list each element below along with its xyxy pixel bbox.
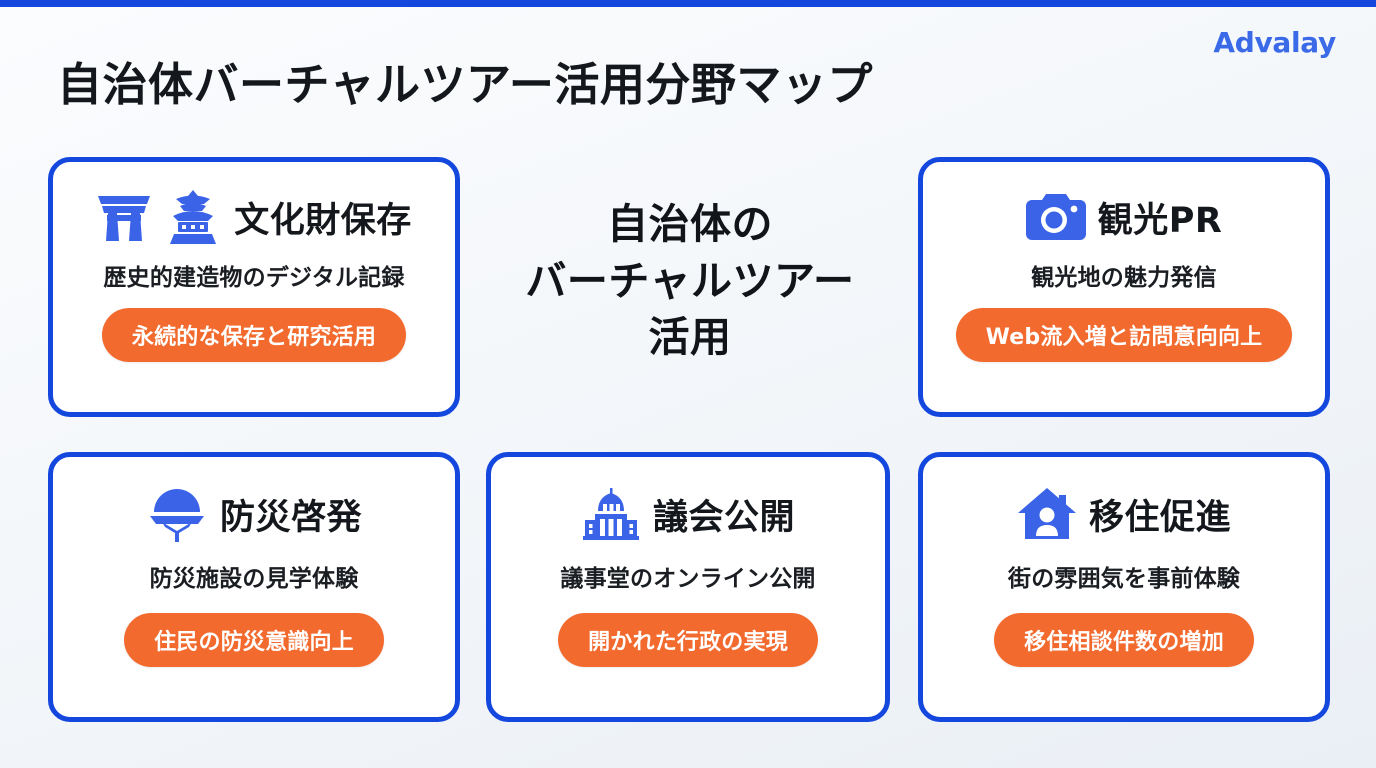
slide-root: Advalay 自治体バーチャルツアー活用分野マップ 自治体の バーチャルツアー…: [0, 0, 1376, 768]
card-outcome-badge: 移住相談件数の増加: [994, 613, 1254, 667]
card-cultural-preservation[interactable]: 文化財保存 歴史的建造物のデジタル記録 永続的な保存と研究活用: [48, 157, 460, 417]
card-subtitle: 街の雰囲気を事前体験: [1008, 559, 1240, 593]
card-header: 文化財保存: [96, 186, 412, 248]
card-title: 観光PR: [1098, 192, 1223, 243]
card-header: 移住促進: [1017, 483, 1231, 545]
card-outcome-badge: 住民の防災意識向上: [124, 613, 384, 667]
card-disaster-awareness[interactable]: 防災啓発 防災施設の見学体験 住民の防災意識向上: [48, 452, 460, 722]
card-outcome-badge: 永続的な保存と研究活用: [102, 308, 406, 362]
card-outcome-badge: Web流入増と訪問意向向上: [956, 308, 1293, 362]
rescue-helmet-icon: [146, 486, 208, 542]
card-title: 議会公開: [653, 489, 795, 540]
camera-icon: [1026, 191, 1086, 243]
card-title: 文化財保存: [234, 192, 412, 243]
card-header: 防災啓発: [146, 483, 362, 545]
card-migration-promotion[interactable]: 移住促進 街の雰囲気を事前体験 移住相談件数の増加: [918, 452, 1330, 722]
house-person-icon: [1017, 486, 1077, 542]
card-header: 観光PR: [1026, 186, 1223, 248]
torii-gate-icon: [96, 191, 152, 243]
hub-line-3: 活用: [478, 309, 902, 366]
card-subtitle: 議事堂のオンライン公開: [560, 559, 815, 593]
card-header: 議会公開: [581, 483, 795, 545]
japanese-castle-icon: [164, 189, 222, 245]
card-subtitle: 歴史的建造物のデジタル記録: [103, 258, 404, 292]
capitol-building-icon: [581, 486, 641, 542]
center-hub-label: 自治体の バーチャルツアー 活用: [478, 196, 902, 366]
card-title: 防災啓発: [220, 489, 362, 540]
page-title: 自治体バーチャルツアー活用分野マップ: [57, 48, 873, 113]
card-title: 移住促進: [1089, 489, 1231, 540]
hub-line-1: 自治体の: [478, 196, 902, 253]
card-outcome-badge: 開かれた行政の実現: [558, 613, 818, 667]
card-assembly-disclosure[interactable]: 議会公開 議事堂のオンライン公開 開かれた行政の実現: [486, 452, 890, 722]
card-subtitle: 観光地の魅力発信: [1031, 258, 1217, 292]
card-tourism-pr[interactable]: 観光PR 観光地の魅力発信 Web流入増と訪問意向向上: [918, 157, 1330, 417]
top-accent-bar: [0, 0, 1376, 7]
hub-line-2: バーチャルツアー: [478, 253, 902, 310]
brand-logo: Advalay: [1213, 26, 1336, 59]
card-subtitle: 防災施設の見学体験: [150, 559, 359, 593]
